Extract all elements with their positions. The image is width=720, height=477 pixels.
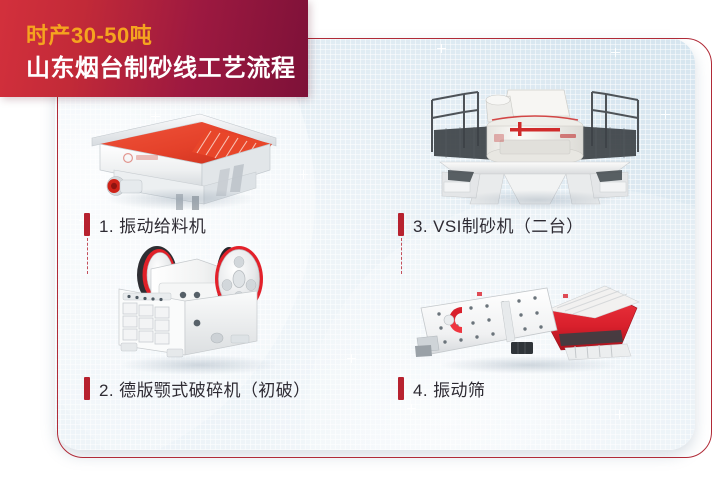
banner-title: 山东烟台制砂线工艺流程 [26,48,296,83]
equipment-vibrating-feeder [80,100,280,210]
flow-label-4[interactable]: 4. 振动筛 [398,376,485,401]
flow-label-2[interactable]: 2. 德版颚式破碎机（初破） [84,376,311,401]
label-marker [84,213,90,236]
equipment-vsi-sand-maker [418,78,652,208]
equipment-jaw-crusher [105,243,290,373]
connector-dash-1 [87,238,88,274]
label-marker [398,213,404,236]
flow-label-2-text: 2. 德版颚式破碎机（初破） [99,376,311,401]
label-marker [84,377,90,400]
equipment-vibrating-screen [415,272,655,372]
connector-dash-3 [401,238,402,274]
banner-subtitle: 时产30-50吨 [26,18,152,50]
flow-label-3[interactable]: 3. VSI制砂机（二台） [398,212,584,237]
flow-label-4-text: 4. 振动筛 [413,376,485,401]
label-marker [398,377,404,400]
poster-canvas: 1. 振动给料机 [0,0,720,477]
flow-label-1[interactable]: 1. 振动给料机 [84,212,206,237]
flow-label-3-text: 3. VSI制砂机（二台） [413,212,584,237]
header-banner: 时产30-50吨 山东烟台制砂线工艺流程 [0,0,308,97]
flow-label-1-text: 1. 振动给料机 [99,212,206,237]
